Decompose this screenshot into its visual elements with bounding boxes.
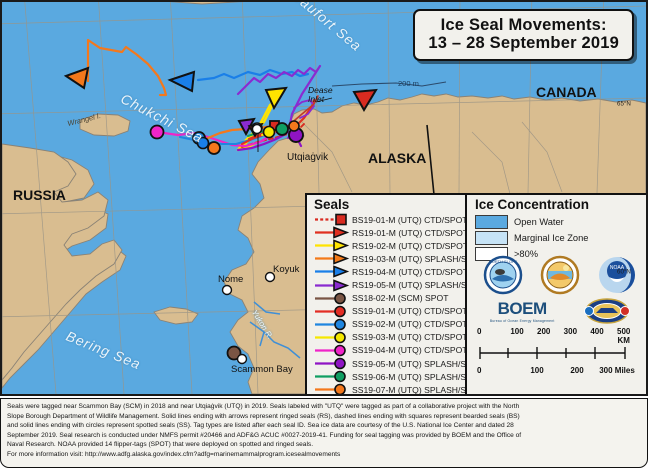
- land-wrangel-island: [80, 114, 130, 136]
- caption-line: Naval Research. NOAA provided 14 flipper…: [7, 440, 641, 450]
- ice-legend-heading: Ice Concentration: [475, 197, 648, 212]
- scale-bar-graphic: [477, 345, 629, 361]
- seal-symbol-square: [314, 213, 350, 226]
- title-line-1: Ice Seal Movements:: [428, 16, 619, 34]
- seal-symbol-circle: [314, 370, 350, 383]
- caption-url[interactable]: For more information visit: http://www.a…: [7, 450, 641, 460]
- north-slope-borough-seal-icon: NORTH SLOPE: [483, 255, 523, 295]
- adfg-seal-icon: [540, 255, 580, 295]
- seal-legend-row: RS19-03-M (UTQ) SPLASH/SPOT: [307, 252, 487, 265]
- seal-symbol-circle: [314, 318, 350, 331]
- seal-symbol-circle: [314, 383, 350, 396]
- seal-legend-row: SS19-03-M (UTQ) CTD/SPOT: [307, 331, 487, 344]
- seal-legend-label: BS19-01-M (UTQ) CTD/SPOT: [352, 215, 468, 225]
- caption-line: and solid lines ending with circles repr…: [7, 421, 641, 431]
- seal-symbol-arrow: [314, 265, 350, 278]
- caption-line: Slope Borough Department of Wildlife Man…: [7, 412, 641, 422]
- scale-km-tick: 200: [530, 327, 557, 345]
- seal-legend-row: SS19-02-M (UTQ) CTD/SPOT: [307, 318, 487, 331]
- ice-legend-row: Marginal Ice Zone: [475, 231, 648, 245]
- ice-label-open-water: Open Water: [514, 217, 564, 227]
- seal-symbol-circle: [314, 331, 350, 344]
- ice-swatch-marginal-ice-zone: [475, 231, 508, 245]
- seal-symbol-circle: [314, 292, 350, 305]
- ice-legend-row: Open Water: [475, 215, 648, 229]
- seal-legend-row: SS19-01-M (UTQ) CTD/SPOT: [307, 305, 487, 318]
- scale-mile-tick: 100: [517, 366, 557, 375]
- onr-seal-icon: [584, 297, 630, 325]
- scale-mile-tick: 200: [557, 366, 597, 375]
- seal-legend-row: RS19-04-M (UTQ) CTD/SPOT: [307, 265, 487, 278]
- ice-label-marginal-ice-zone: Marginal Ice Zone: [514, 233, 588, 243]
- seal-symbol-arrow: [314, 252, 350, 265]
- seal-legend-row: BS19-01-M (UTQ) CTD/SPOT: [307, 213, 487, 226]
- seal-legend-label: SS18-02-M (SCM) SPOT: [352, 293, 448, 303]
- seal-legend-label: SS19-02-M (UTQ) CTD/SPOT: [352, 319, 468, 329]
- seal-legend-row: SS19-05-M (UTQ) SPLASH/SPOT: [307, 357, 487, 370]
- seal-symbol-circle: [314, 305, 350, 318]
- seal-legend-label: RS19-01-M (UTQ) CTD/SPOT: [352, 228, 468, 238]
- seal-symbol-arrow: [314, 226, 350, 239]
- seal-legend-label: SS19-03-M (UTQ) CTD/SPOT: [352, 332, 468, 342]
- seal-legend-row: SS18-02-M (SCM) SPOT: [307, 292, 487, 305]
- seal-legend-row: RS19-05-M (UTQ) SPLASH/SPOT: [307, 278, 487, 291]
- svg-text:NORTH SLOPE: NORTH SLOPE: [489, 259, 518, 264]
- scale-km-tick: 400: [584, 327, 611, 345]
- seal-legend-row: RS19-02-M (UTQ) CTD/SPOT: [307, 239, 487, 252]
- scale-km-tick: 300: [557, 327, 584, 345]
- scale-km-tick: 500 KM: [610, 327, 637, 345]
- caption-panel: Seals were tagged near Scammon Bay (SCM)…: [0, 398, 648, 468]
- lat-tick-label: 60°N: [617, 269, 631, 276]
- scale-bar-mile-labels: 0100200300 Miles: [477, 366, 637, 375]
- scale-mile-tick: 0: [477, 366, 517, 375]
- seal-legend-label: RS19-04-M (UTQ) CTD/SPOT: [352, 267, 468, 277]
- seal-legend-label: SS19-04-M (UTQ) CTD/SPOT: [352, 345, 468, 355]
- seal-legend-label: SS19-01-M (UTQ) CTD/SPOT: [352, 306, 468, 316]
- seals-legend-heading: Seals: [314, 197, 487, 212]
- ice-swatch-open-water: [475, 215, 508, 229]
- map-poster: Beaufort Sea Chukchi Sea Bering Sea RUSS…: [0, 0, 648, 468]
- map-canvas[interactable]: Beaufort Sea Chukchi Sea Bering Sea RUSS…: [0, 0, 648, 396]
- seal-legend-row: SS19-04-M (UTQ) CTD/SPOT: [307, 344, 487, 357]
- scale-bar-km-labels: 0100200300400500 KM: [477, 327, 637, 345]
- title-box: Ice Seal Movements: 13 – 28 September 20…: [413, 9, 634, 61]
- caption-line: September 2019. Seal research is conduct…: [7, 431, 641, 441]
- ice-legend-panel: Ice Concentration Open Water Marginal Ic…: [465, 193, 648, 396]
- scale-km-tick: 100: [504, 327, 531, 345]
- seal-symbol-circle: [314, 344, 350, 357]
- seal-symbol-arrow: [314, 279, 350, 292]
- seal-legend-row: SS19-07-M (UTQ) SPLASH/SPOT: [307, 383, 487, 396]
- seal-legend-row: SS19-06-M (UTQ) SPLASH/SPOT: [307, 370, 487, 383]
- seal-legend-label: RS19-02-M (UTQ) CTD/SPOT: [352, 241, 468, 251]
- scale-bar: 0100200300400500 KM 0100200300 Miles: [477, 327, 637, 375]
- logo-group: NORTH SLOPE NOAA: [475, 255, 645, 325]
- scale-mile-tick: 300 Miles: [597, 366, 637, 375]
- title-line-2: 13 – 28 September 2019: [428, 34, 619, 53]
- caption-line: Seals were tagged near Scammon Bay (SCM)…: [7, 402, 641, 412]
- seal-symbol-arrow: [314, 239, 350, 252]
- scale-km-tick: 0: [477, 327, 504, 345]
- seal-legend-row: RS19-01-M (UTQ) CTD/SPOT: [307, 226, 487, 239]
- seal-symbol-circle: [314, 357, 350, 370]
- boem-wordmark: BOEM Bureau of Ocean Energy Management: [490, 299, 555, 323]
- seals-legend-panel: Seals BS19-01-M (UTQ) CTD/SPOTRS19-01-M …: [305, 193, 487, 396]
- lat-tick-label: 65°N: [617, 101, 631, 108]
